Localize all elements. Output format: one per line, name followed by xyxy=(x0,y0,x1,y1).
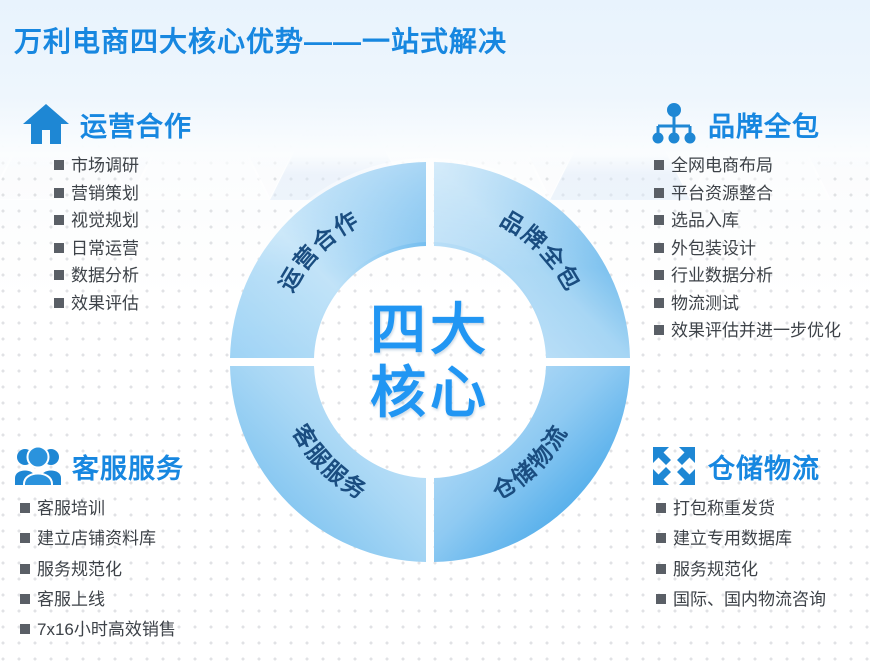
feature-block-service: 客服服务 客服培训 建立店铺资料库 服务规范化 客服上线 7x16小时高效销售 xyxy=(14,444,184,645)
list-item: 客服培训 xyxy=(20,494,184,524)
list-item: 选品入库 xyxy=(654,207,841,235)
list-item-label: 建立专用数据库 xyxy=(673,524,792,554)
list-item-label: 客服上线 xyxy=(37,585,105,615)
bullet-square-icon xyxy=(20,594,30,604)
infographic-canvas: 万利电商四大核心优势——一站式解决 xyxy=(0,0,870,672)
list-item: 服务规范化 xyxy=(20,555,184,585)
list-item-label: 建立店铺资料库 xyxy=(37,524,156,554)
list-item-label: 市场调研 xyxy=(71,152,139,180)
bullet-square-icon xyxy=(54,298,64,308)
list-item-label: 数据分析 xyxy=(71,262,139,290)
people-group-icon xyxy=(14,444,62,488)
bullet-square-icon xyxy=(20,533,30,543)
page-title: 万利电商四大核心优势——一站式解决 xyxy=(14,20,507,60)
list-item: 服务规范化 xyxy=(656,555,826,585)
list-item: 打包称重发货 xyxy=(656,494,826,524)
bullet-square-icon xyxy=(656,594,666,604)
four-arrows-expand-icon xyxy=(650,444,698,488)
bullet-square-icon xyxy=(54,243,64,253)
list-item-label: 服务规范化 xyxy=(37,555,122,585)
bullet-square-icon xyxy=(656,503,666,513)
list-item: 营销策划 xyxy=(54,180,192,208)
feature-list-operations: 市场调研 营销策划 视觉规划 日常运营 数据分析 效果评估 xyxy=(54,152,192,317)
list-item-label: 外包装设计 xyxy=(671,235,756,263)
bullet-square-icon xyxy=(654,243,664,253)
list-item: 市场调研 xyxy=(54,152,192,180)
list-item: 外包装设计 xyxy=(654,235,841,263)
list-item-label: 客服培训 xyxy=(37,494,105,524)
org-chart-icon xyxy=(650,102,698,146)
four-core-donut: 运营合作 品牌全包 客服服务 仓储物流 xyxy=(196,128,664,596)
feature-list-logistics: 打包称重发货 建立专用数据库 服务规范化 国际、国内物流咨询 xyxy=(656,494,826,615)
list-item: 行业数据分析 xyxy=(654,262,841,290)
list-item: 客服上线 xyxy=(20,585,184,615)
home-icon xyxy=(22,102,70,146)
bullet-square-icon xyxy=(54,160,64,170)
list-item: 建立专用数据库 xyxy=(656,524,826,554)
list-item-label: 服务规范化 xyxy=(673,555,758,585)
list-item: 7x16小时高效销售 xyxy=(20,615,184,645)
feature-list-service: 客服培训 建立店铺资料库 服务规范化 客服上线 7x16小时高效销售 xyxy=(20,494,184,645)
bullet-square-icon xyxy=(654,188,664,198)
list-item-label: 效果评估并进一步优化 xyxy=(671,317,841,345)
bullet-square-icon xyxy=(54,188,64,198)
list-item: 全网电商布局 xyxy=(654,152,841,180)
bullet-square-icon xyxy=(654,160,664,170)
list-item: 平台资源整合 xyxy=(654,180,841,208)
feature-title-operations: 运营合作 xyxy=(80,105,192,144)
list-item-label: 国际、国内物流咨询 xyxy=(673,585,826,615)
list-item: 建立店铺资料库 xyxy=(20,524,184,554)
list-item-label: 选品入库 xyxy=(671,207,739,235)
list-item-label: 物流测试 xyxy=(671,290,739,318)
feature-header-logistics: 仓储物流 xyxy=(650,444,826,488)
bullet-square-icon xyxy=(54,270,64,280)
list-item: 数据分析 xyxy=(54,262,192,290)
feature-block-logistics: 仓储物流 打包称重发货 建立专用数据库 服务规范化 国际、国内物流咨询 xyxy=(650,444,826,615)
feature-block-operations: 运营合作 市场调研 营销策划 视觉规划 日常运营 数据分析 效果评估 xyxy=(22,102,192,317)
bullet-square-icon xyxy=(656,533,666,543)
bullet-square-icon xyxy=(654,215,664,225)
bullet-square-icon xyxy=(20,503,30,513)
bullet-square-icon xyxy=(656,564,666,574)
feature-list-brand: 全网电商布局 平台资源整合 选品入库 外包装设计 行业数据分析 物流测试 效果评… xyxy=(654,152,841,345)
list-item-label: 平台资源整合 xyxy=(671,180,773,208)
list-item: 视觉规划 xyxy=(54,207,192,235)
bullet-square-icon xyxy=(20,564,30,574)
list-item: 效果评估 xyxy=(54,290,192,318)
feature-title-brand: 品牌全包 xyxy=(708,105,820,144)
list-item-label: 视觉规划 xyxy=(71,207,139,235)
list-item: 日常运营 xyxy=(54,235,192,263)
list-item-label: 效果评估 xyxy=(71,290,139,318)
feature-header-operations: 运营合作 xyxy=(22,102,192,146)
bullet-square-icon xyxy=(54,215,64,225)
feature-title-logistics: 仓储物流 xyxy=(708,447,820,486)
list-item-label: 营销策划 xyxy=(71,180,139,208)
bullet-square-icon xyxy=(654,298,664,308)
list-item: 国际、国内物流咨询 xyxy=(656,585,826,615)
list-item-label: 行业数据分析 xyxy=(671,262,773,290)
list-item: 效果评估并进一步优化 xyxy=(654,317,841,345)
feature-block-brand: 品牌全包 全网电商布局 平台资源整合 选品入库 外包装设计 行业数据分析 物流测… xyxy=(650,102,841,345)
list-item-label: 全网电商布局 xyxy=(671,152,773,180)
bullet-square-icon xyxy=(654,270,664,280)
feature-header-brand: 品牌全包 xyxy=(650,102,841,146)
list-item-label: 7x16小时高效销售 xyxy=(37,615,176,645)
feature-header-service: 客服服务 xyxy=(14,444,184,488)
list-item-label: 日常运营 xyxy=(71,235,139,263)
bullet-square-icon xyxy=(654,325,664,335)
list-item: 物流测试 xyxy=(654,290,841,318)
bullet-square-icon xyxy=(20,624,30,634)
feature-title-service: 客服服务 xyxy=(72,447,184,486)
list-item-label: 打包称重发货 xyxy=(673,494,775,524)
